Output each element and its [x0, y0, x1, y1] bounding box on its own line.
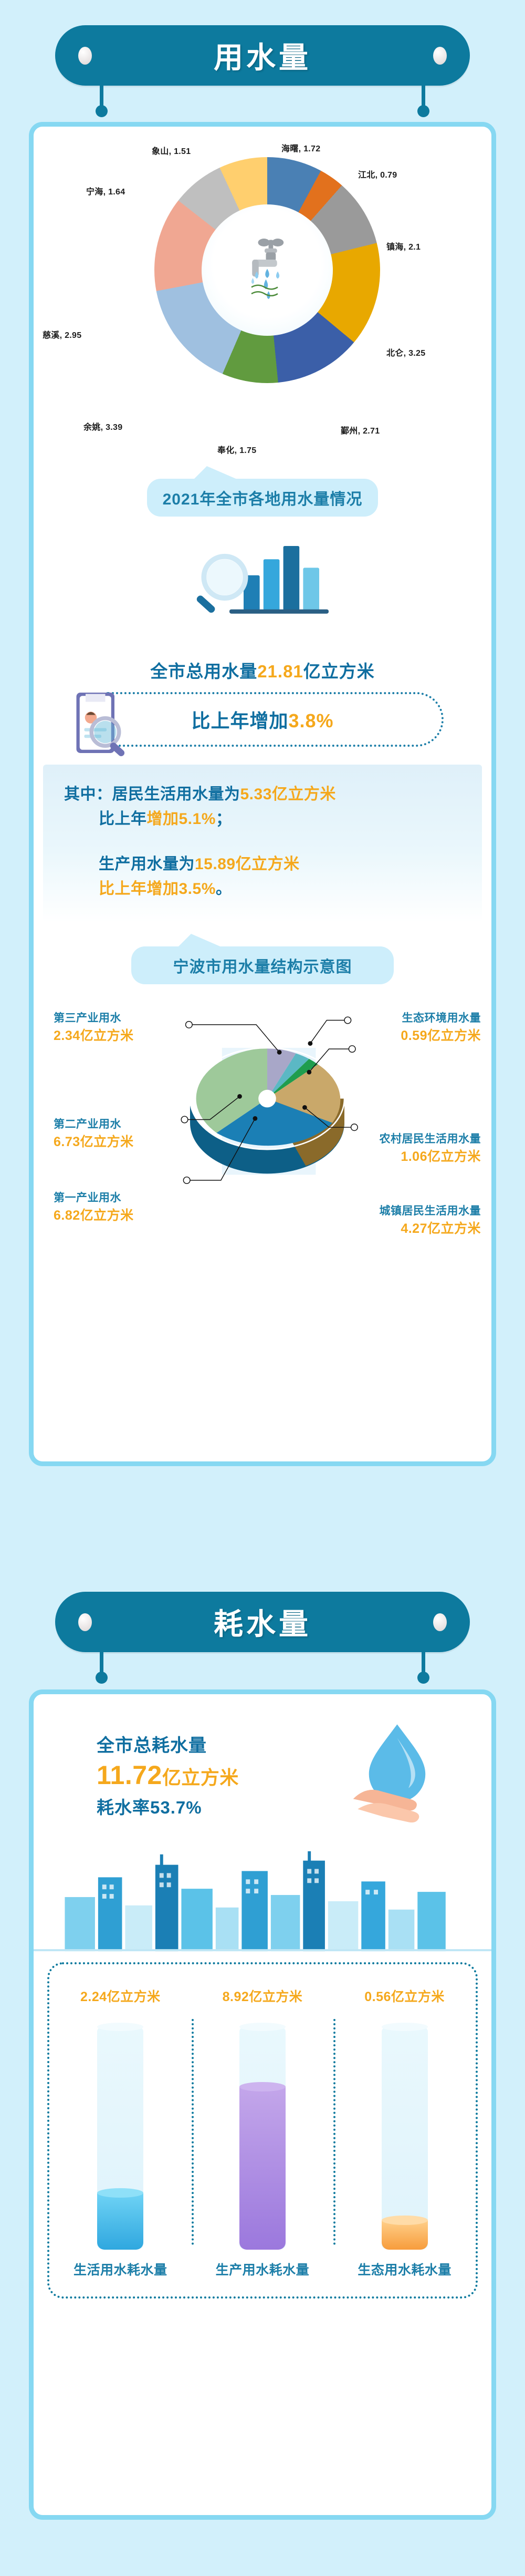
clipboard-magnifier-icon — [59, 685, 138, 764]
pie-callout-2: 第二产业用水6.73亿立方米 — [54, 1116, 134, 1150]
consumption-total-unit: 亿立方米 — [162, 1767, 239, 1788]
detail-l1a: 居民生活用水量为 — [112, 786, 240, 803]
tube-fill-cap-0 — [97, 2188, 143, 2198]
tube-glass-2 — [382, 2026, 428, 2250]
tube-column-2: 0.56亿立方米生态用水耗水量 — [333, 1964, 476, 2296]
tube-value-1: 8.92亿立方米 — [192, 1986, 334, 2005]
pie-callout-name-0: 第三产业用水 — [54, 1009, 134, 1025]
pie-callout-name-4: 第一产业用水 — [54, 1189, 134, 1205]
hanger-dot-right-2 — [417, 1672, 429, 1684]
total-usage-prefix: 全市总用水量 — [150, 662, 257, 681]
detail-l3u: 亿立方米 — [236, 856, 300, 873]
compare-text: 比上年增加3.8% — [191, 706, 333, 733]
total-usage-block: 全市总用水量21.81亿立方米 比上年增加3.8% — [34, 657, 491, 747]
pie-callout-3: 农村居民生活用水量1.06亿立方米 — [380, 1130, 481, 1165]
total-usage-line: 全市总用水量21.81亿立方米 — [34, 657, 491, 683]
detail-line-4: 比上年增加3.5%。 — [64, 877, 461, 902]
pie-callout-value-4: 6.82亿立方米 — [54, 1205, 134, 1224]
section-title: 用水量 — [214, 34, 311, 77]
donut-label-6: 奉化, 1.75 — [217, 443, 256, 456]
consumption-total-value: 11.72 — [97, 1760, 162, 1790]
tube-label-2: 生态用水耗水量 — [333, 2260, 476, 2279]
hanger-dot-left-2 — [96, 1672, 108, 1684]
structure-caption-bubble: 宁波市用水量结构示意图 — [131, 946, 394, 984]
donut-caption-text: 2021年全市各地用水量情况 — [163, 491, 363, 508]
structure-pie-region: 第三产业用水2.34亿立方米生态环境用水量0.59亿立方米第二产业用水6.73亿… — [34, 984, 501, 1258]
detail-l2a: 比上年 — [99, 810, 147, 828]
donut-center — [202, 204, 333, 336]
donut-label-5: 鄞州, 2.71 — [341, 424, 380, 436]
pie-callout-value-5: 4.27亿立方米 — [380, 1218, 481, 1237]
pie-callout-value-2: 6.73亿立方米 — [54, 1131, 134, 1150]
detail-lead: 其中： — [64, 786, 112, 803]
hanger-dot-right — [417, 105, 429, 117]
pie-callout-name-5: 城镇居民生活用水量 — [380, 1202, 481, 1218]
detail-l1v: 5.33 — [240, 786, 272, 803]
compare-pill: 比上年增加3.8% — [81, 692, 444, 747]
consumption-total-value-line: 11.72亿立方米 — [97, 1760, 239, 1790]
pie-callout-name-1: 生态环境用水量 — [401, 1009, 481, 1025]
pie-callout-value-3: 1.06亿立方米 — [380, 1146, 481, 1165]
detail-l3v: 15.89 — [195, 856, 236, 873]
donut-label-9: 宁海, 1.64 — [86, 184, 125, 197]
detail-l2b: 增加5.1% — [147, 810, 216, 828]
banner-plate-2: 耗水量 — [55, 1592, 470, 1652]
donut-caption-bubble: 2021年全市各地用水量情况 — [147, 479, 378, 517]
donut-chart-region: 象山, 1.51海曙, 1.72江北, 0.79镇海, 2.1北仑, 3.25鄞… — [34, 127, 501, 494]
donut-label-7: 余姚, 3.39 — [83, 420, 122, 432]
structure-3d-pie-chart — [157, 1015, 377, 1191]
tube-value-2: 0.56亿立方米 — [333, 1986, 476, 2005]
consumption-headline-region: 全市总耗水量 11.72亿立方米 耗水率53.7% — [34, 1694, 501, 1847]
detail-line-1: 其中：居民生活用水量为5.33亿立方米 — [64, 782, 461, 807]
rivet-right-icon — [433, 47, 447, 65]
total-usage-unit: 亿立方米 — [303, 662, 375, 681]
rivet-left-icon — [78, 47, 92, 65]
hanger-dot-left — [96, 105, 108, 117]
tube-label-1: 生产用水耗水量 — [192, 2260, 334, 2279]
tube-fill-cap-1 — [239, 2082, 286, 2091]
pie-callout-name-3: 农村居民生活用水量 — [380, 1130, 481, 1146]
bar-magnifier-illustration — [34, 517, 501, 648]
section-banner-water-usage: 用水量 — [0, 25, 525, 86]
tube-column-0: 2.24亿立方米生活用水耗水量 — [49, 1964, 192, 2296]
city-skyline-illustration — [34, 1847, 491, 1952]
detail-line-3: 生产用水量为15.89亿立方米 — [64, 852, 461, 877]
detail-l1u: 亿立方米 — [272, 786, 336, 803]
banner-plate: 用水量 — [55, 25, 470, 86]
donut-label-4: 北仑, 3.25 — [386, 346, 425, 358]
pie-callout-0: 第三产业用水2.34亿立方米 — [54, 1009, 134, 1044]
tube-label-0: 生活用水耗水量 — [49, 2260, 192, 2279]
donut-label-0: 象山, 1.51 — [152, 144, 191, 157]
pie-callout-value-0: 2.34亿立方米 — [54, 1025, 134, 1044]
donut-label-8: 慈溪, 2.95 — [43, 328, 81, 341]
tube-fill-2 — [382, 2220, 428, 2250]
tube-glass-1 — [239, 2026, 286, 2250]
tube-column-1: 8.92亿立方米生产用水耗水量 — [192, 1964, 334, 2296]
detail-l4b: 。 — [216, 880, 232, 898]
pie-callout-1: 生态环境用水量0.59亿立方米 — [401, 1009, 481, 1044]
tube-glass-0 — [97, 2026, 143, 2250]
consumption-stats: 全市总耗水量 11.72亿立方米 耗水率53.7% — [97, 1731, 239, 1819]
tube-fill-0 — [97, 2193, 143, 2250]
rivet-right-icon-2 — [433, 1613, 447, 1631]
donut-label-1: 海曙, 1.72 — [281, 141, 320, 154]
detail-l3a: 生产用水量为 — [99, 856, 195, 873]
consumption-total-label: 全市总耗水量 — [97, 1731, 239, 1757]
pie-callout-4: 第一产业用水6.82亿立方米 — [54, 1189, 134, 1224]
rivet-left-icon-2 — [78, 1613, 92, 1631]
structure-caption-text: 宁波市用水量结构示意图 — [173, 959, 352, 976]
pie-callout-name-2: 第二产业用水 — [54, 1116, 134, 1131]
hand-water-drop-icon — [341, 1714, 454, 1827]
tube-fill-cap-2 — [382, 2216, 428, 2225]
total-usage-value: 21.81 — [257, 662, 303, 681]
detail-l4a: 比上年增加3.5% — [99, 880, 216, 898]
faucet-water-icon — [228, 231, 307, 310]
donut-chart — [154, 157, 380, 383]
section-title-2: 耗水量 — [214, 1601, 311, 1643]
pie-callout-5: 城镇居民生活用水量4.27亿立方米 — [380, 1202, 481, 1237]
section-banner-water-consumption: 耗水量 — [0, 1592, 525, 1652]
compare-value: 3.8% — [288, 710, 333, 731]
donut-label-3: 镇海, 2.1 — [386, 240, 421, 252]
consumption-rate-label: 耗水率53.7% — [97, 1794, 239, 1819]
pie-callout-value-1: 0.59亿立方米 — [401, 1025, 481, 1044]
detail-breakdown-panel: 其中：居民生活用水量为5.33亿立方米 比上年增加5.1%； 生产用水量为15.… — [43, 765, 482, 922]
donut-label-2: 江北, 0.79 — [358, 168, 397, 180]
tubes-comparison-box: 2.24亿立方米生活用水耗水量8.92亿立方米生产用水耗水量0.56亿立方米生态… — [47, 1962, 478, 2299]
tube-value-0: 2.24亿立方米 — [49, 1986, 192, 2005]
detail-line-2: 比上年增加5.1%； — [64, 807, 461, 832]
bar-chart-icon — [173, 524, 362, 634]
detail-l2c: ； — [216, 810, 232, 828]
tube-fill-1 — [239, 2087, 286, 2250]
card-water-consumption: 全市总耗水量 11.72亿立方米 耗水率53.7% — [29, 1689, 496, 2520]
card-water-usage: 象山, 1.51海曙, 1.72江北, 0.79镇海, 2.1北仑, 3.25鄞… — [29, 122, 496, 1466]
compare-prefix: 比上年增加 — [191, 710, 288, 731]
